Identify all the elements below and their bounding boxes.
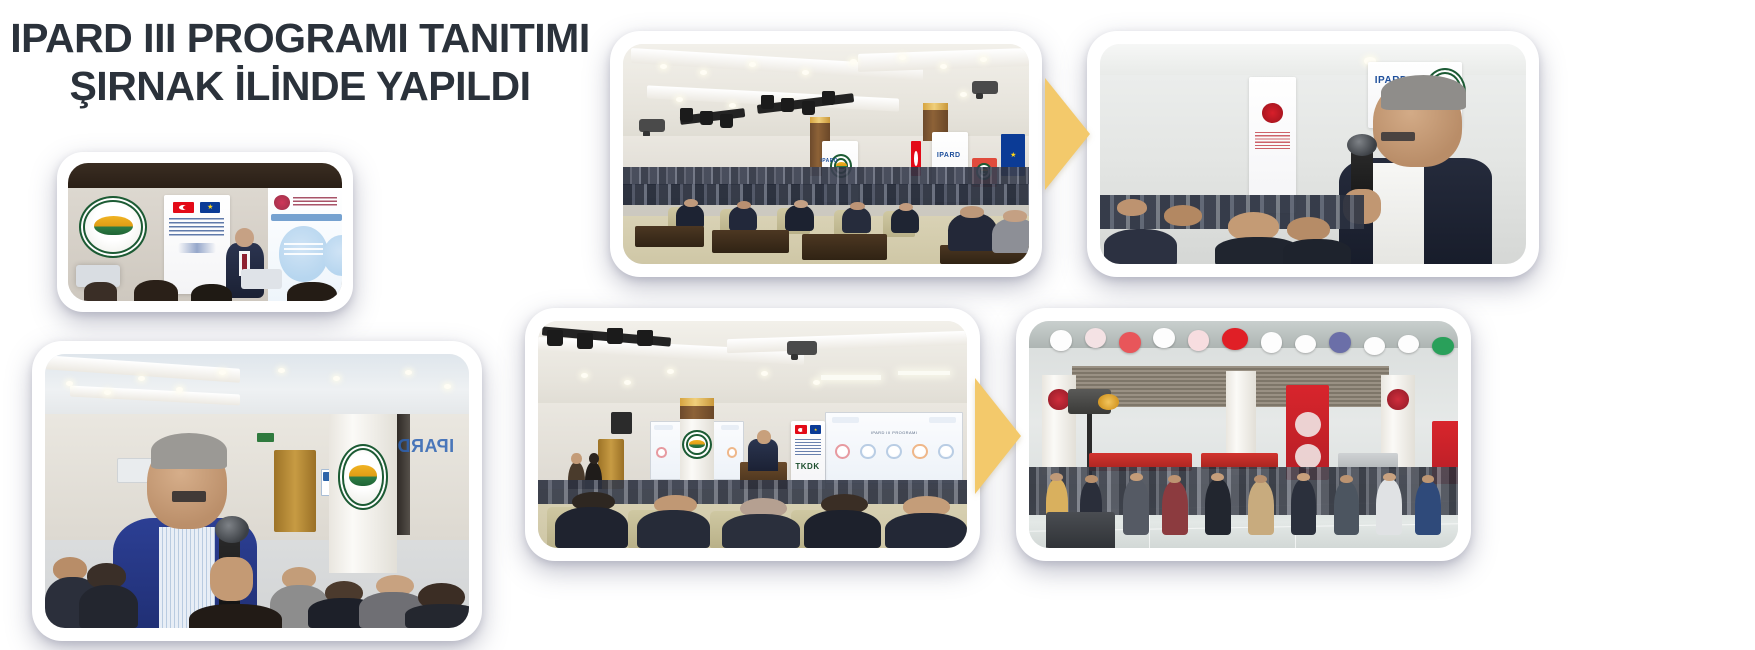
visitor-head [1130,473,1143,481]
stage-spotlight [802,101,815,115]
screen-circle [912,444,927,459]
ceiling-projector [639,119,665,132]
downlight [278,368,285,373]
ceiling-light-strip [898,371,949,376]
photo-bottom-right-exhibition [1016,308,1471,561]
visitor-head [1297,473,1310,481]
screen-header [832,417,956,423]
standing-attendee-head [589,453,599,464]
standing-speaker-moustache [1381,132,1415,141]
foreground-person [948,213,997,251]
standing-speaker-hair [1381,75,1466,110]
page-title: IPARD III PROGRAMI TANITIMI ŞIRNAK İLİND… [0,14,600,110]
foreground-person [992,218,1029,254]
arrow-bottom-right-icon [975,378,1021,494]
hanging-roundel [1050,330,1071,350]
photo-bottom-center-image: IPARD III PROGRAMI ★ TKDK [538,321,967,548]
photo-top-right-image: IPARD [1100,44,1526,264]
screen-chip [929,417,956,423]
screen-circle [656,447,667,458]
foreground-body [722,514,799,548]
screen-chip [832,417,859,423]
audience-head [1287,217,1330,240]
foreground-hand-left [84,282,117,301]
hanging-roundel [1119,332,1140,352]
collage-canvas: IPARD III PROGRAMI TANITIMI ŞIRNAK İLİND… [0,0,1755,650]
ceiling-projector [972,81,998,94]
exit-sign-icon [257,433,274,441]
audience-crowd [45,529,469,628]
photo-top-center-audience: IPARD IPARD ★ [610,31,1042,277]
foreground-person-head [960,206,984,218]
stage-spotlight [547,330,563,346]
arrow-top-right-icon [1045,78,1090,190]
hanging-roundel [1295,335,1316,353]
photo-bottom-left-image: IPARD [45,354,469,628]
foreground-body [637,510,710,548]
banner-text-block [795,439,821,455]
downlight [749,62,756,67]
visitor [1334,481,1360,535]
audience-person [729,206,757,231]
front-table [635,226,704,247]
visitor [1248,481,1274,535]
screen-chip [721,425,740,430]
photo-top-left-image: ★ [68,163,342,301]
visitor [1291,479,1317,535]
eu-stars-icon: ★ [810,425,821,434]
visitor [1162,481,1188,535]
pillar-cap [923,103,947,110]
screen-chip [654,425,673,430]
eu-flag-icon: ★ [810,425,821,434]
downlight [667,369,674,374]
microphone-head-icon [1347,134,1377,156]
downlight [676,97,683,102]
foreground-phone-right [241,269,282,288]
visitor-head [1254,475,1267,483]
photo-top-left-slide: ★ [57,152,353,312]
photo-bottom-center-presentation: IPARD III PROGRAMI ★ TKDK [525,308,980,561]
stage-spotlight [577,333,593,349]
screen-circle [886,444,901,459]
downlight [624,380,631,385]
screen-circle [860,444,875,459]
visitor-head [1211,473,1224,481]
stage-spotlight [607,328,623,344]
front-table [802,234,887,259]
visitor [1415,481,1441,535]
wooden-door [274,450,316,532]
presenter-body [748,439,778,471]
hanging-roundel [1398,335,1419,353]
foreground-head-3 [287,282,336,301]
foreground-body [555,507,628,548]
ceiling-projector [787,341,817,355]
hanging-roundel [1432,337,1453,355]
foreground-head-2 [191,284,232,301]
visitor [1376,479,1402,535]
downlight [940,64,947,69]
downlight [104,390,111,395]
speaker-hair [151,433,227,469]
audience-person-head [737,201,751,209]
foreground-body [885,513,967,548]
tkdk-emblem-icon [338,444,389,510]
wall-speaker-box [611,412,632,435]
audience-crowd [1100,180,1526,264]
presenter-head [757,430,771,444]
photo-bottom-right-image [1029,321,1458,548]
projection-screen-right: IPARD III PROGRAMI [825,412,962,485]
audience-head [1117,199,1147,216]
equipment-case [1046,512,1115,548]
audience-body [405,604,469,628]
visitor-head [1340,475,1353,483]
red-banner-bubble [1295,412,1321,437]
screen-title-text: IPARD III PROGRAMI [826,430,961,435]
stage-spotlight [720,114,733,128]
eu-flag-icon: ★ [200,202,221,213]
audience-crowd [623,158,1029,264]
hanging-roundel [1188,330,1209,350]
screen-circle [835,444,850,459]
ministry-logo-icon [274,195,290,210]
eu-stars-icon: ★ [200,202,221,213]
stage-spotlight [700,111,713,125]
downlight [444,384,451,389]
downlight [660,64,667,69]
hanging-roundel-flag [1222,328,1248,351]
ceiling-dark [68,163,342,188]
hanging-roundel [1261,332,1282,352]
hanging-roundel [1364,337,1385,355]
banner-text-lines [169,218,224,237]
visitor-head [1085,475,1098,483]
audience-person [842,207,870,233]
audience-body [1104,229,1176,264]
standing-attendee-head [571,453,581,464]
audience-person-head [684,199,698,207]
dark-band [397,414,410,535]
stage-spotlight [761,95,774,109]
foreground-head [189,604,282,628]
audience-body [1283,239,1351,264]
banner-signature [178,243,216,253]
hanging-roundel [1153,328,1174,348]
hanging-roundel [1329,332,1350,352]
audience-person-head [850,202,864,210]
downlight [813,380,820,385]
audience-head [1164,205,1202,226]
turkish-flag-icon [173,202,194,213]
banner-text-block [1255,132,1289,150]
audience-row-back [623,167,1029,185]
ceiling-panel [1100,44,1526,75]
column-emblem-icon [1048,389,1069,409]
visitor-head [1383,473,1396,481]
foreground-body [804,510,881,548]
page-title-line-2: ŞIRNAK İLİNDE YAPILDI [0,62,600,110]
studio-light-lens [1098,394,1119,410]
audience-body [79,585,138,628]
visitor [1123,479,1149,535]
wall-ipard-label: IPARD [397,436,454,457]
downlight [761,371,768,376]
stage-spotlight [781,98,794,112]
ministry-label-text [293,197,337,207]
turkish-flag-icon [795,425,806,434]
tkdk-emblem-icon [682,430,712,460]
slide-heading-text [271,214,342,221]
photo-top-center-image: IPARD IPARD ★ [623,44,1029,264]
foreground-person-head [1003,210,1027,222]
stage-spotlight [680,108,693,122]
speaker-moustache [172,491,206,502]
audience-person [891,208,919,233]
stage-spotlight [822,91,835,105]
photo-bottom-left-speaker: IPARD [32,341,482,641]
foreground-head-1 [134,280,178,301]
page-title-line-1: IPARD III PROGRAMI TANITIMI [0,14,600,62]
front-table [712,230,789,253]
tkdk-banner-label: TKDK [795,462,819,471]
ceiling-light-strip [821,375,881,380]
speaker-head [235,228,254,247]
screen-circle [938,444,953,459]
pillar-cap [810,117,830,124]
screen-circle [727,447,738,458]
slide-bubble-label [284,243,322,255]
photo-top-right-microphone: IPARD [1087,31,1539,277]
audience-person-head [794,200,808,208]
audience-crowd [538,480,967,548]
screen-circle-row [835,444,954,459]
audience-person [785,205,813,231]
stage-spotlight [637,330,653,346]
column-emblem-icon [1387,389,1408,409]
visitor [1205,479,1231,535]
pillar-cap [680,398,714,406]
